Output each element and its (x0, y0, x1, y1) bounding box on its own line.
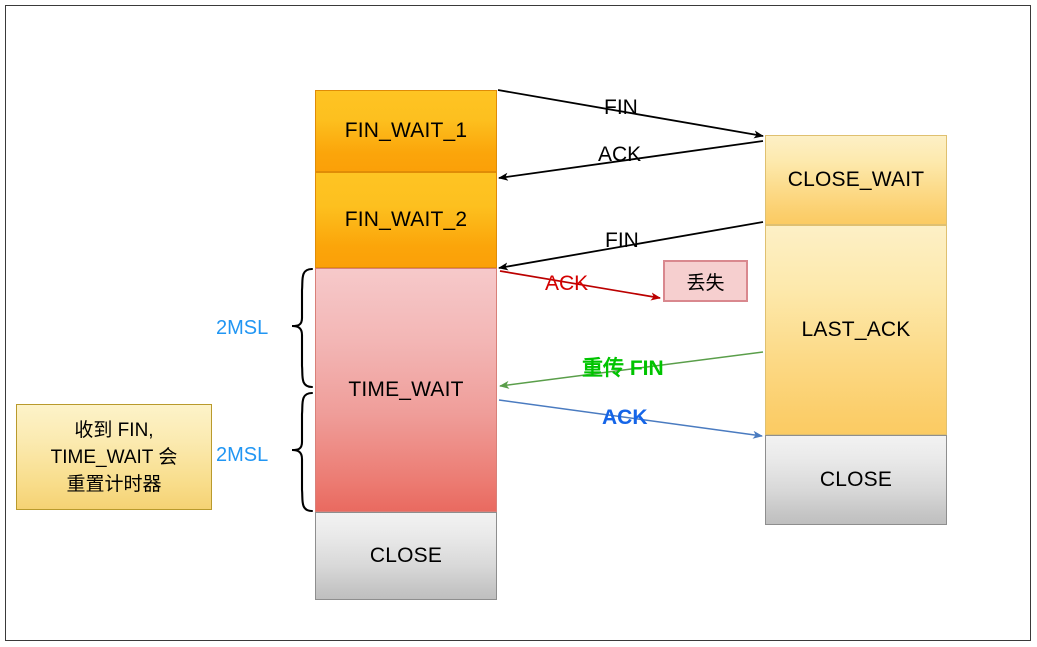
arrow-label-ack-final: ACK (602, 406, 648, 430)
state-box-last-ack[interactable]: LAST_ACK (765, 225, 947, 435)
arrow-label-fin-2: FIN (605, 229, 639, 253)
note-box: 收到 FIN, TIME_WAIT 会 重置计时器 (16, 404, 212, 510)
state-label: LAST_ACK (802, 318, 911, 342)
state-label: FIN_WAIT_2 (345, 208, 468, 232)
diagram-canvas: FIN_WAIT_1 FIN_WAIT_2 TIME_WAIT CLOSE CL… (0, 0, 1037, 647)
state-box-close-wait[interactable]: CLOSE_WAIT (765, 135, 947, 225)
brace-label-2msl-1: 2MSL (216, 317, 268, 340)
state-label: CLOSE (370, 544, 442, 568)
arrow-label-ack-lost: ACK (545, 272, 588, 296)
state-label: CLOSE_WAIT (788, 168, 925, 192)
note-line-1: 收到 FIN, (74, 417, 153, 444)
brace-2msl-2 (292, 393, 312, 511)
state-label: CLOSE (820, 468, 892, 492)
state-box-client-close[interactable]: CLOSE (315, 512, 497, 600)
arrow-label-retransmit-fin: 重传 FIN (582, 352, 664, 382)
state-box-fin-wait-1[interactable]: FIN_WAIT_1 (315, 90, 497, 172)
state-box-server-close[interactable]: CLOSE (765, 435, 947, 525)
brace-label-2msl-2: 2MSL (216, 444, 268, 467)
arrow-label-fin-1: FIN (604, 96, 638, 120)
state-box-time-wait[interactable]: TIME_WAIT (315, 268, 497, 512)
lost-packet-label: 丢失 (686, 268, 724, 295)
state-label: TIME_WAIT (348, 378, 463, 402)
state-label: FIN_WAIT_1 (345, 119, 468, 143)
lost-packet-box: 丢失 (663, 260, 748, 302)
arrow-label-ack-1: ACK (598, 143, 641, 167)
note-line-3: 重置计时器 (66, 471, 161, 498)
state-box-fin-wait-2[interactable]: FIN_WAIT_2 (315, 172, 497, 268)
brace-2msl-1 (292, 269, 312, 387)
note-line-2: TIME_WAIT 会 (51, 444, 178, 471)
